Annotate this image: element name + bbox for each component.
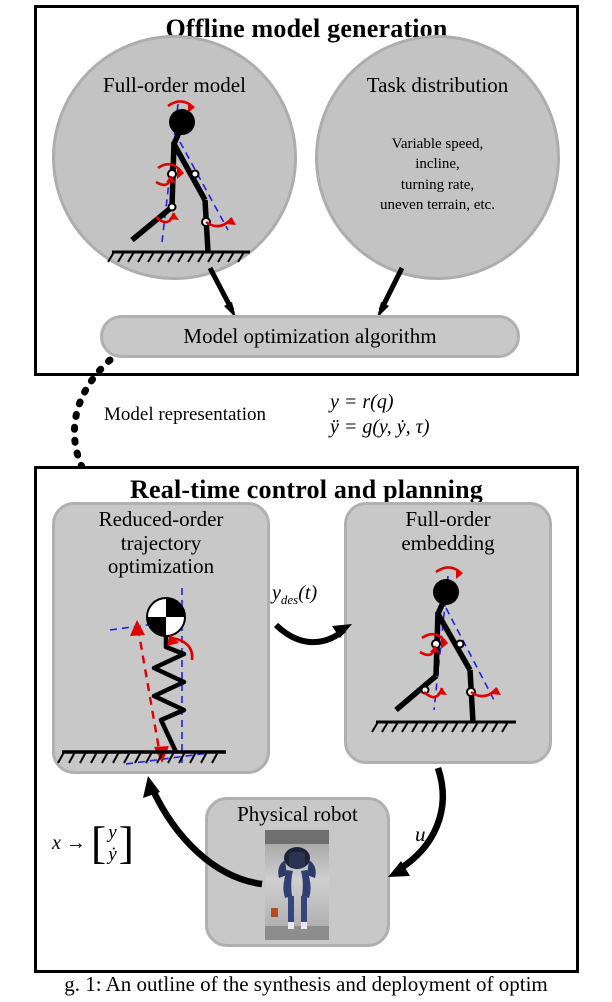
state-vector-row-2: ẏ	[108, 844, 116, 866]
state-arrow-glyph: →	[66, 832, 86, 855]
bracket-left-icon: [	[91, 825, 106, 862]
control-input-label: u	[415, 822, 426, 847]
figure-caption: g. 1: An outline of the synthesis and de…	[0, 972, 612, 997]
state-symbol: x	[52, 832, 61, 855]
state-mapping-label: x → [ y ẏ ]	[52, 822, 134, 866]
bracket-right-icon: ]	[119, 825, 134, 862]
state-vector: [ y ẏ ]	[91, 822, 134, 866]
state-vector-row-1: y	[108, 822, 116, 844]
